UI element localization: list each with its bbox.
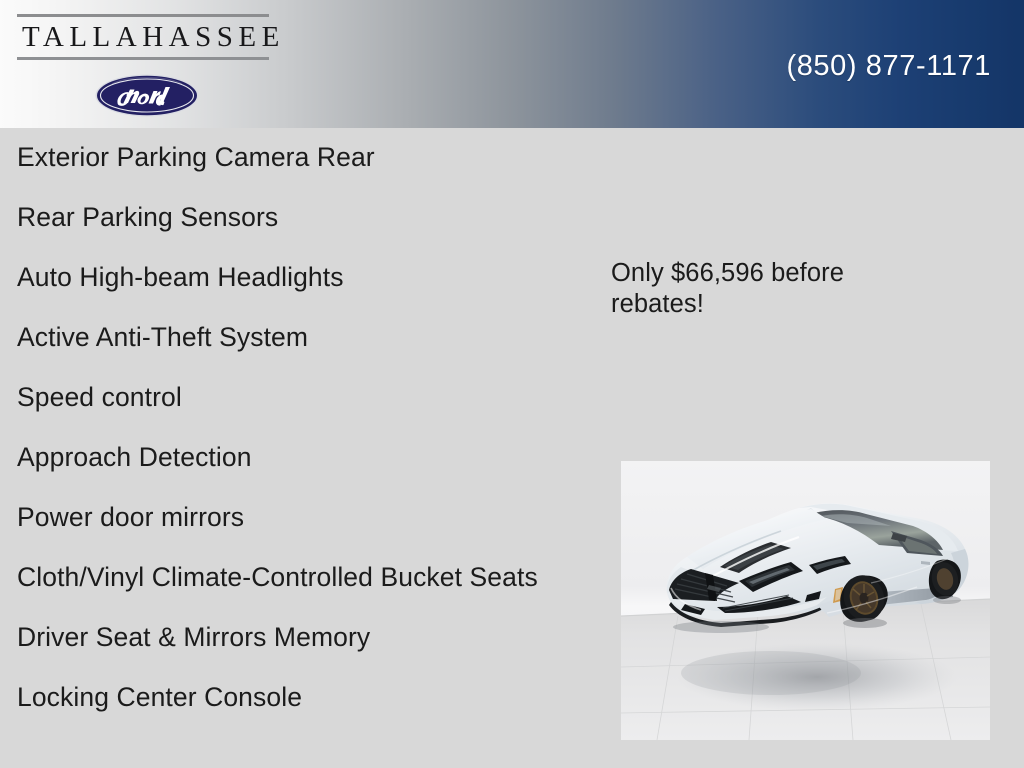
vehicle-feature-list: Exterior Parking Camera Rear Rear Parkin…	[17, 141, 577, 741]
list-item: Speed control	[17, 381, 577, 414]
logo-rule-bottom	[17, 57, 269, 60]
list-item: Auto High-beam Headlights	[17, 261, 577, 294]
list-item: Exterior Parking Camera Rear	[17, 141, 577, 174]
dealer-name: TALLAHASSEE	[17, 17, 269, 57]
page-header: TALLAHASSEE (850) 877-1171	[0, 0, 1024, 128]
list-item: Rear Parking Sensors	[17, 201, 577, 234]
dealer-phone-number[interactable]: (850) 877-1171	[786, 50, 991, 83]
list-item: Power door mirrors	[17, 501, 577, 534]
dealer-logo-block[interactable]: TALLAHASSEE	[17, 14, 269, 60]
ford-oval-icon[interactable]	[95, 74, 199, 117]
list-item: Cloth/Vinyl Climate-Controlled Bucket Se…	[17, 561, 577, 594]
vehicle-photo[interactable]	[621, 461, 990, 740]
list-item: Active Anti-Theft System	[17, 321, 577, 354]
price-callout: Only $66,596 before rebates!	[611, 258, 941, 320]
list-item: Locking Center Console	[17, 681, 577, 714]
list-item: Approach Detection	[17, 441, 577, 474]
list-item: Driver Seat & Mirrors Memory	[17, 621, 577, 654]
